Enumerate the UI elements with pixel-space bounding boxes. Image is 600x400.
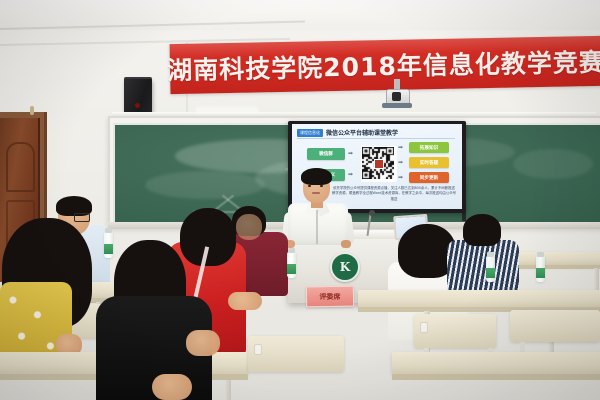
presenter-shirt-placket xyxy=(316,210,318,244)
slide-box-left-1: 微信群 xyxy=(307,148,345,160)
banner-text: 湖南科技学院2018年信息化教学竞赛 xyxy=(167,43,600,87)
arrow-icon-right-3: ➡ xyxy=(398,175,403,181)
desk-middle-right xyxy=(358,290,600,307)
glasses-icon xyxy=(74,213,90,222)
slide-box-right-2: 实时答疑 xyxy=(409,157,449,168)
arrow-icon-left-1: ➡ xyxy=(348,151,353,157)
attendee-maroon-head xyxy=(236,214,262,240)
attendee-navy-stripe-torso xyxy=(447,240,519,296)
attendee-red-dress-arm xyxy=(228,292,262,310)
camera-base xyxy=(382,103,412,108)
qr-center-logo-icon xyxy=(374,159,384,169)
board-lamp xyxy=(196,108,258,112)
slide-tag-badge: 课程信息化 xyxy=(297,129,323,137)
door-knob[interactable] xyxy=(30,106,34,115)
presenter-hand-right xyxy=(341,240,351,248)
attendee-navy-stripe-hair xyxy=(463,214,501,246)
slide-title-underline xyxy=(297,138,455,139)
slide-box-right-1: 拓展知识 xyxy=(409,142,449,153)
placard-text: 评委席 xyxy=(319,291,340,301)
chair xyxy=(510,310,600,342)
desk-front-right xyxy=(392,352,600,374)
school-emblem-icon: K xyxy=(330,252,360,282)
microphone-icon xyxy=(369,210,375,216)
presenter-hair xyxy=(301,168,332,185)
door-panel-upper xyxy=(6,142,35,192)
attendee-black-top-arm xyxy=(186,330,220,356)
classroom-photo-scene: 湖南科技学院2018年信息化教学竞赛 课程信息化 微信公众平台辅助课堂教学 xyxy=(0,0,600,400)
slide-box-right-3: 同步更新 xyxy=(409,172,449,183)
camera-lens-icon xyxy=(392,92,401,101)
attendee-red-dress-hair xyxy=(180,208,236,266)
slide-header: 课程信息化 微信公众平台辅助课堂教学 xyxy=(297,128,455,137)
table-placard: 评委席 xyxy=(306,286,354,308)
speaker-led-icon xyxy=(135,103,140,108)
arrow-icon-right-1: ➡ xyxy=(398,145,403,151)
attendee-black-top-knee xyxy=(152,374,192,400)
arrow-icon-right-2: ➡ xyxy=(398,160,403,166)
event-banner: 湖南科技学院2018年信息化教学竞赛 xyxy=(170,36,600,94)
slide-body-text: 依托学院的公众号提供课程资源点播，关注人数已达到800余人，累计不间断推送教学资… xyxy=(332,186,456,202)
presenter-mouth xyxy=(312,192,320,194)
arrow-icon-left-2: ➡ xyxy=(348,172,353,178)
chair xyxy=(248,336,344,372)
slide-title: 微信公众平台辅助课堂教学 xyxy=(326,128,398,137)
